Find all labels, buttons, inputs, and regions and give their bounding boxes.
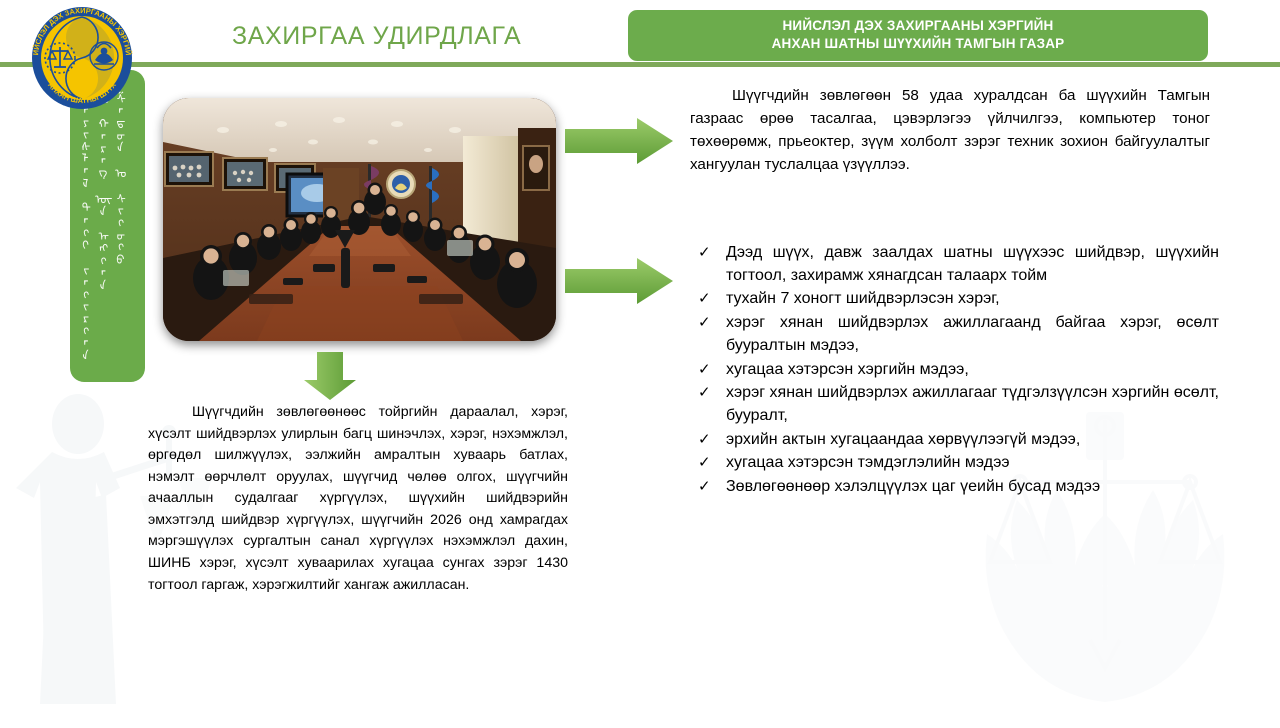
- page-title: ЗАХИРГАА УДИРДЛАГА: [232, 22, 521, 51]
- header-divider-rule: [0, 62, 1280, 67]
- check-icon: ✓: [698, 429, 711, 450]
- list-item-label: эрхийн актын хугацаандаа хөрвүүлээгүй мэ…: [726, 431, 1080, 448]
- list-item: ✓хугацаа хэтэрсэн тэмдэглэлийн мэдээ: [694, 452, 1219, 475]
- summary-paragraph-right: Шүүгчдийн зөвлөгөөн 58 удаа хуралдсан ба…: [690, 84, 1210, 176]
- check-icon: ✓: [698, 359, 711, 380]
- list-item-label: Дээд шүүх, давж заалдах шатны шүүхээс ши…: [726, 244, 1219, 284]
- organization-banner: НИЙСЛЭЛ ДЭХ ЗАХИРГААНЫ ХЭРГИЙН АНХАН ШАТ…: [628, 10, 1208, 61]
- list-item: ✓эрхийн актын хугацаандаа хөрвүүлээгүй м…: [694, 429, 1219, 452]
- checklist: ✓Дээд шүүх, давж заалдах шатны шүүхээс ш…: [694, 242, 1219, 500]
- list-item: ✓хэрэг хянан шийдвэрлэх ажиллагаанд байг…: [694, 312, 1219, 357]
- list-item: ✓Дээд шүүх, давж заалдах шатны шүүхээс ш…: [694, 242, 1219, 287]
- check-icon: ✓: [698, 288, 711, 309]
- list-item-label: Зөвлөгөөнөөр хэлэлцүүлэх цаг үеийн бусад…: [726, 478, 1100, 495]
- list-item: ✓Зөвлөгөөнөөр хэлэлцүүлэх цаг үеийн буса…: [694, 476, 1219, 499]
- list-item: ✓тухайн 7 хоногт шийдвэрлэсэн хэрэг,: [694, 288, 1219, 311]
- mongolian-script-side-panel: ᠨᠡᠶᠢᠰᠯᠡᠯ ᠳᠡᠬᠢ ᠵᠠᠬᠢᠷᠭᠠᠨ ᠤ ᠬᠡᠷᠡᠭ ᠦᠨ ᠠᠩᠬᠠᠨ …: [70, 70, 145, 382]
- check-icon: ✓: [698, 312, 711, 333]
- check-icon: ✓: [698, 476, 711, 497]
- list-item-label: хэрэг хянан шийдвэрлэх ажиллагаанд байга…: [726, 314, 1219, 354]
- list-item: ✓хугацаа хэтэрсэн хэргийн мэдээ,: [694, 359, 1219, 382]
- arrow-right-icon-2: [565, 258, 673, 304]
- list-item: ✓хэрэг хянан шийдвэрлэх ажиллагааг түдгэ…: [694, 382, 1219, 427]
- organization-banner-line2: АНХАН ШАТНЫ ШҮҮХИЙН ТАМГЫН ГАЗАР: [638, 35, 1198, 53]
- summary-paragraph-left: Шүүгчдийн зөвлөгөөнөөс тойргийн дараалал…: [148, 402, 568, 596]
- court-emblem-logo: НИЙСЛЭЛ ДЭХ ЗАХИРГААНЫ ХЭРГИЙН АНХАН ШАТ…: [30, 6, 134, 110]
- mongolian-script-text: ᠨᠡᠶᠢᠰᠯᠡᠯ ᠳᠡᠬᠢ ᠵᠠᠬᠢᠷᠭᠠᠨ ᠤ ᠬᠡᠷᠡᠭ ᠦᠨ ᠠᠩᠬᠠᠨ …: [70, 70, 145, 382]
- arrow-down-icon: [304, 352, 356, 400]
- list-item-label: тухайн 7 хоногт шийдвэрлэсэн хэрэг,: [726, 290, 1000, 307]
- list-item-label: хугацаа хэтэрсэн тэмдэглэлийн мэдээ: [726, 454, 1010, 471]
- list-item-label: хэрэг хянан шийдвэрлэх ажиллагааг түдгэл…: [726, 384, 1219, 424]
- organization-banner-line1: НИЙСЛЭЛ ДЭХ ЗАХИРГААНЫ ХЭРГИЙН: [638, 17, 1198, 35]
- arrow-right-icon-1: [565, 118, 673, 164]
- check-icon: ✓: [698, 382, 711, 403]
- judges-council-photo: [163, 98, 556, 341]
- check-icon: ✓: [698, 242, 711, 263]
- check-icon: ✓: [698, 452, 711, 473]
- list-item-label: хугацаа хэтэрсэн хэргийн мэдээ,: [726, 361, 969, 378]
